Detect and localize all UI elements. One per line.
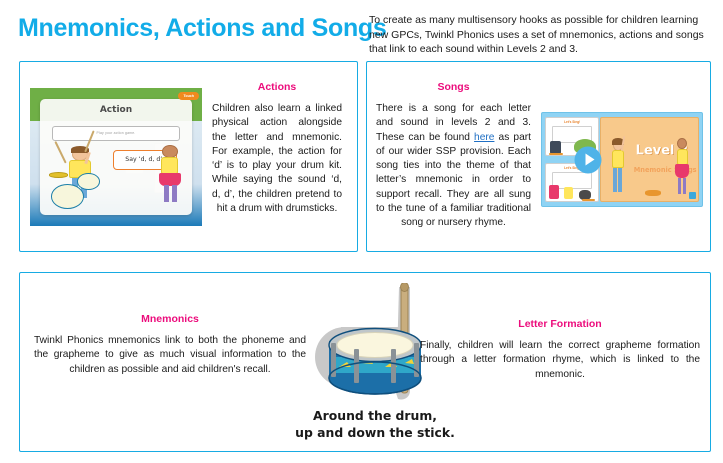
twinkl-logo-icon xyxy=(689,192,696,199)
ppt-boy-character xyxy=(608,136,627,194)
mini-slide-1-base xyxy=(549,153,563,155)
mnemonics-letterformation-card: Mnemonics Twinkl Phonics mnemonics link … xyxy=(19,272,711,452)
songs-heading: Songs xyxy=(376,81,531,93)
action-slide-illustration: Action Play your action game. xyxy=(30,88,202,226)
songs-card: Songs There is a song for each letter an… xyxy=(366,61,711,252)
actions-body: Children also learn a linked physical ac… xyxy=(212,102,342,216)
songs-body-part2: as part of our wider SSP provision. Each… xyxy=(376,132,531,229)
ppt-main-slide: Level 2 Mnemonic Songs xyxy=(600,117,699,202)
rhyme-line-2: up and down the stick. xyxy=(275,424,475,441)
play-icon[interactable] xyxy=(575,146,602,173)
slide-instruction-bar: Play your action game. xyxy=(52,126,179,141)
drum-letter-d-svg xyxy=(315,283,435,405)
slide-card: Action Play your action game. xyxy=(40,99,191,215)
songs-powerpoint-preview[interactable]: Let's Sing! Let's Sing! xyxy=(541,112,703,207)
mini-slide-2-boy xyxy=(564,187,573,199)
document-page: Mnemonics, Actions and Songs To create a… xyxy=(0,0,723,463)
slide-title: Action xyxy=(40,105,191,115)
slide-instruction-text: Play your action game. xyxy=(53,131,178,135)
mini-slide-2-girl xyxy=(549,185,558,198)
drum-kit xyxy=(49,166,113,210)
letter-formation-rhyme: Around the drum, up and down the stick. xyxy=(275,407,475,441)
letter-formation-heading: Letter Formation xyxy=(420,318,700,330)
mini-slide-2-base xyxy=(582,199,596,201)
letter-formation-body: Finally, children will learn the correct… xyxy=(420,339,700,382)
rhyme-line-1: Around the drum, xyxy=(275,407,475,424)
page-header: Mnemonics, Actions and Songs To create a… xyxy=(0,0,723,58)
mini-slide-1-title: Let's Sing! xyxy=(546,120,598,124)
actions-heading: Actions xyxy=(212,81,342,93)
intro-paragraph: To create as many multisensory hooks as … xyxy=(369,13,713,57)
ppt-base-shape xyxy=(645,190,661,196)
ppt-girl-character xyxy=(673,135,692,196)
actions-card: Action Play your action game. xyxy=(19,61,358,252)
songs-here-link[interactable]: here xyxy=(474,132,494,143)
drum-letter-d-mnemonic xyxy=(315,283,435,405)
touch-badge[interactable]: Touch xyxy=(178,92,199,100)
mini-slide-1-figure xyxy=(550,141,560,154)
mnemonics-body: Twinkl Phonics mnemonics link to both th… xyxy=(34,334,306,377)
songs-body: There is a song for each letter and soun… xyxy=(376,102,531,231)
page-title: Mnemonics, Actions and Songs xyxy=(18,14,387,43)
mnemonics-heading: Mnemonics xyxy=(34,313,306,325)
girl-character xyxy=(155,145,185,205)
